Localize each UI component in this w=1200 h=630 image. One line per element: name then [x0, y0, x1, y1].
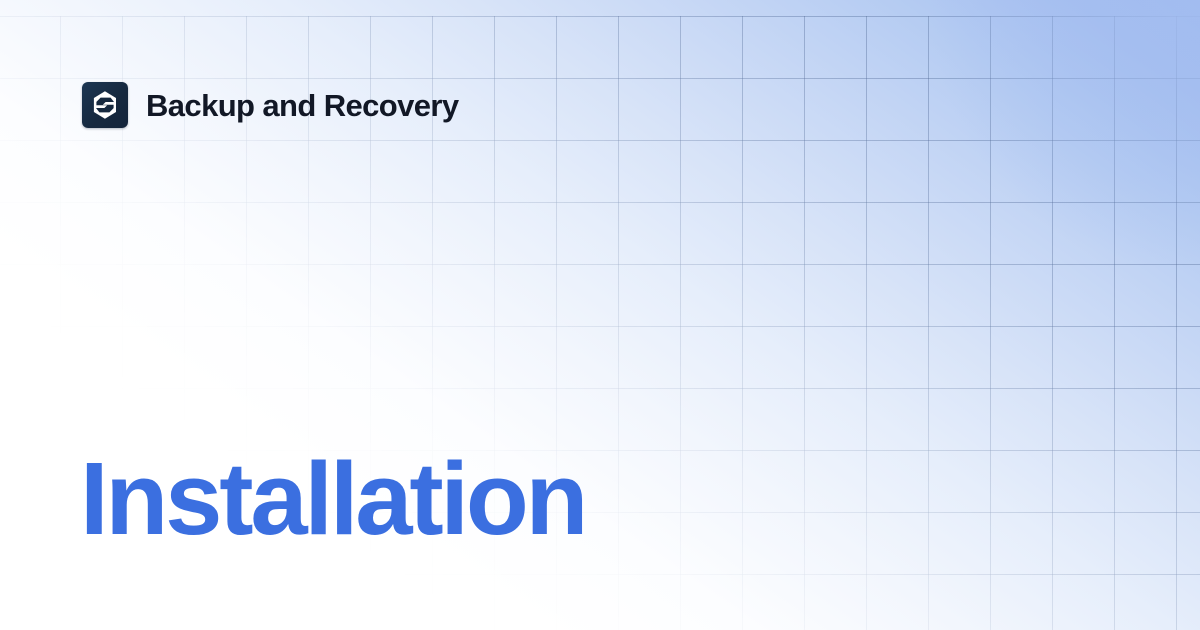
page-title: Installation: [80, 447, 585, 550]
hexagon-s-logo-icon: [82, 82, 128, 128]
brand-row: Backup and Recovery: [82, 82, 459, 128]
hero-banner: Backup and Recovery Installation: [0, 0, 1200, 630]
brand-title: Backup and Recovery: [146, 90, 459, 121]
